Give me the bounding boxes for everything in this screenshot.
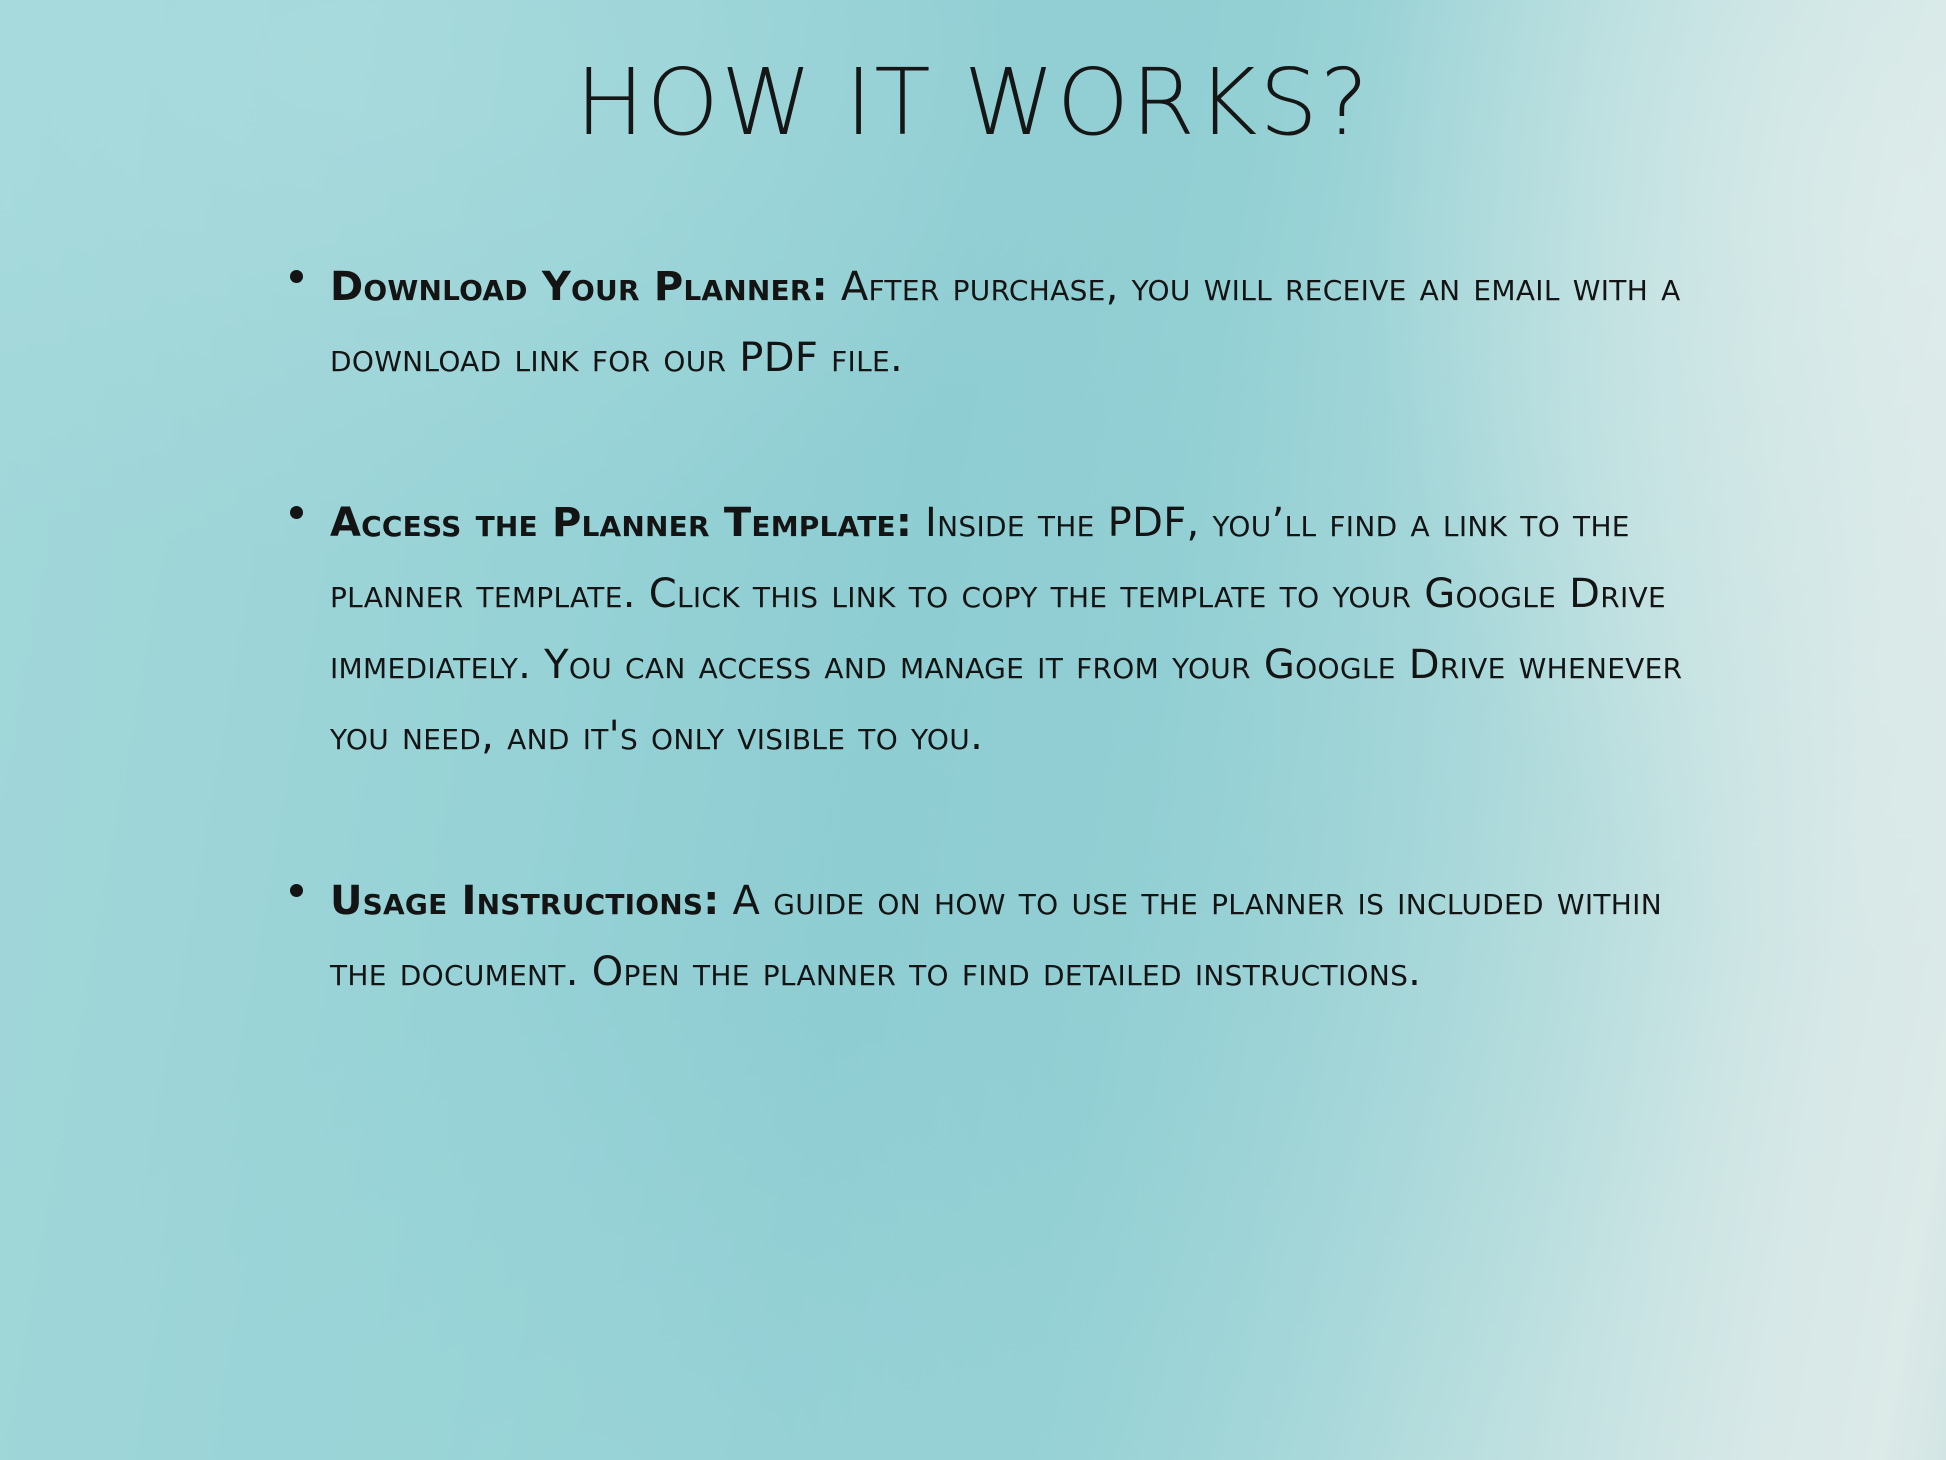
bullet-dot-icon	[290, 270, 303, 283]
bullet-dot-icon	[290, 884, 303, 897]
list-item: Access the Planner Template: Inside the …	[286, 488, 1716, 772]
list-item-label: Download Your Planner:	[330, 264, 828, 310]
list-item-label: Usage Instructions:	[330, 878, 720, 924]
list-item-label: Access the Planner Template:	[330, 500, 912, 546]
list-item: Download Your Planner: After purchase, y…	[286, 252, 1716, 394]
list-item-text: Access the Planner Template: Inside the …	[330, 488, 1716, 772]
bullet-dot-icon	[290, 506, 303, 519]
list-item: Usage Instructions: A guide on how to us…	[286, 866, 1716, 1008]
page-title: HOW IT WORKS?	[0, 52, 1946, 153]
list-item-text: Usage Instructions: A guide on how to us…	[330, 866, 1716, 1008]
slide-canvas: HOW IT WORKS? Download Your Planner: Aft…	[0, 0, 1946, 1460]
instructions-list: Download Your Planner: After purchase, y…	[286, 252, 1716, 1008]
list-item-text: Download Your Planner: After purchase, y…	[330, 252, 1716, 394]
